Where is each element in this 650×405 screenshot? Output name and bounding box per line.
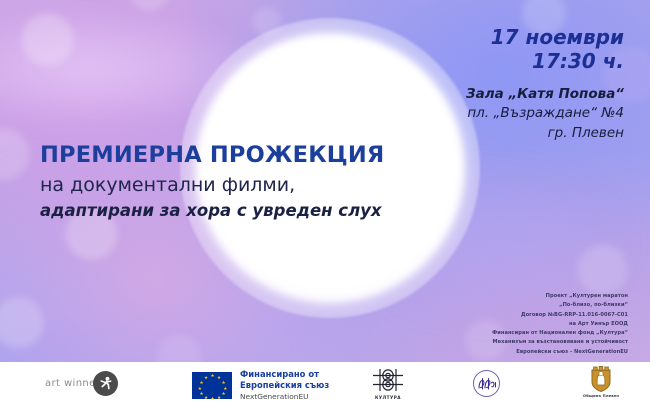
event-info-block: 17 ноември 17:30 ч. Зала „Катя Попова“ п… [466, 26, 624, 143]
credit-line: „По-близо, по-близки“ [492, 301, 628, 310]
logo-art-winner: art winner [45, 371, 118, 396]
event-time: 17:30 ч. [466, 50, 624, 74]
credit-line: Проект „Културен маратон [492, 292, 628, 301]
logo-european-union: ★ ★ ★ ★ ★ ★ ★ ★ ★ ★ ★ ★ Финансирано от Е… [192, 369, 329, 401]
art-winner-figure-icon [93, 371, 118, 396]
logo-ffri [473, 370, 500, 397]
credit-line: на Арт Уинър ЕООД [492, 320, 628, 329]
eu-text-line1: Финансирано от [240, 369, 329, 380]
event-venue-block: Зала „Катя Попова“ пл. „Възраждане“ №4 г… [466, 85, 624, 142]
logo-national-culture-fund: КУЛТУРА [370, 367, 406, 400]
headline-block: ПРЕМИЕРНА ПРОЖЕКЦИЯ на документални филм… [40, 143, 384, 221]
credit-line: Договор №BG-RRP-11.016-0067-C01 [492, 311, 628, 320]
nfk-monogram-icon [370, 367, 406, 393]
pleven-caption: Община Плевен [583, 394, 619, 398]
funding-credits-block: Проект „Културен маратон „По-близо, по-б… [492, 292, 628, 357]
art-winner-label: art winner [45, 378, 100, 389]
ffri-monogram-icon [473, 370, 500, 397]
event-city: гр. Плевен [466, 124, 624, 143]
credit-line: Европейски съюз - NextGenerationEU [492, 348, 628, 357]
event-date: 17 ноември [466, 26, 624, 50]
event-venue-name: Зала „Катя Попова“ [466, 85, 624, 104]
logo-pleven-municipality: Община Плевен [583, 366, 619, 398]
event-address: пл. „Възраждане“ №4 [466, 104, 624, 123]
poster-subtitle-line2: адаптирани за хора с увреден слух [40, 201, 384, 222]
poster-headline: ПРЕМИЕРНА ПРОЖЕКЦИЯ [40, 143, 384, 168]
eu-funding-text: Финансирано от Европейския съюз NextGene… [240, 369, 329, 401]
credit-line: Финансиран от Национален фонд „Култура“ [492, 329, 628, 338]
nfk-caption: КУЛТУРА [375, 395, 401, 400]
credit-line: Механизъм за възстановяване и устойчивос… [492, 338, 628, 347]
pleven-coat-of-arms-icon [590, 366, 612, 392]
eu-flag-icon: ★ ★ ★ ★ ★ ★ ★ ★ ★ ★ ★ ★ [192, 372, 232, 399]
eu-text-line2: Европейския съюз [240, 380, 329, 391]
poster-subtitle-line1: на документални филми, [40, 174, 384, 198]
eu-text-line3: NextGenerationEU [240, 392, 329, 402]
poster-graphic: ПРЕМИЕРНА ПРОЖЕКЦИЯ на документални филм… [0, 0, 650, 405]
sponsor-logo-bar: art winner ★ ★ ★ ★ [0, 362, 650, 405]
